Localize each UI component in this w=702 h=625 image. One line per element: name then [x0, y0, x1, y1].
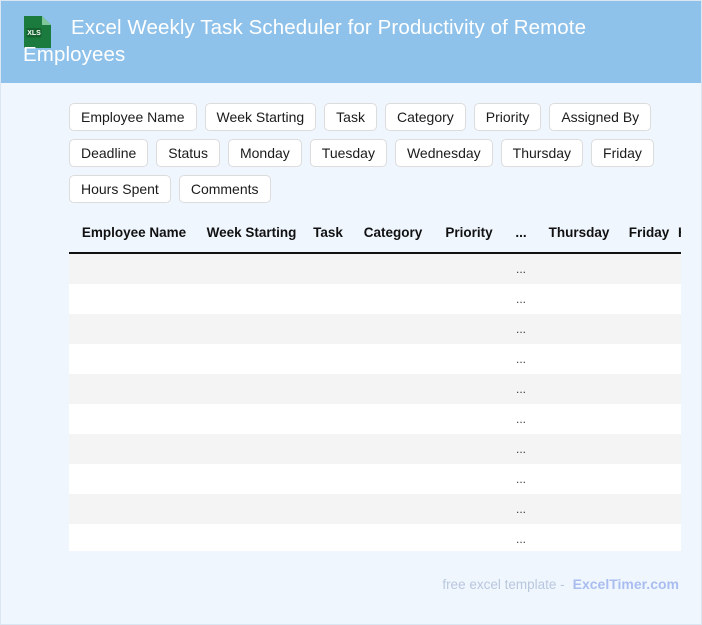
table-cell — [538, 464, 620, 494]
table-cell — [304, 434, 352, 464]
table-row: ... — [69, 524, 681, 551]
table-cell — [434, 314, 504, 344]
table-header-row: Employee Name Week Starting Task Categor… — [69, 221, 681, 253]
table-cell — [352, 374, 434, 404]
table-cell — [352, 404, 434, 434]
table-cell — [620, 464, 678, 494]
table-cell — [69, 464, 199, 494]
table-cell — [199, 524, 304, 551]
table-cell — [538, 404, 620, 434]
table-cell — [199, 314, 304, 344]
table-head: Employee Name Week Starting Task Categor… — [69, 221, 681, 253]
table-cell — [304, 404, 352, 434]
column-chip[interactable]: Status — [156, 139, 220, 167]
table-cell — [538, 284, 620, 314]
footer-brand-link[interactable]: ExcelTimer.com — [573, 576, 679, 592]
table-cell — [538, 494, 620, 524]
table-cell — [304, 314, 352, 344]
table-cell — [304, 253, 352, 284]
column-chip[interactable]: Category — [385, 103, 466, 131]
column-chip[interactable]: Monday — [228, 139, 302, 167]
table-header-cell: Thursday — [538, 221, 620, 253]
table-cell — [678, 434, 681, 464]
table-cell — [304, 374, 352, 404]
table-cell — [69, 404, 199, 434]
table-cell — [538, 314, 620, 344]
table-body: .............................. — [69, 253, 681, 551]
table-cell — [538, 374, 620, 404]
column-chip[interactable]: Wednesday — [395, 139, 493, 167]
table-row: ... — [69, 374, 681, 404]
table-cell — [678, 464, 681, 494]
table-cell — [199, 374, 304, 404]
table-cell-ellipsis: ... — [504, 494, 538, 524]
table-cell — [199, 253, 304, 284]
table-cell — [678, 284, 681, 314]
table-row: ... — [69, 404, 681, 434]
table-cell-ellipsis: ... — [504, 434, 538, 464]
table-cell — [434, 253, 504, 284]
table-cell — [620, 374, 678, 404]
table-cell — [69, 314, 199, 344]
table-cell — [620, 434, 678, 464]
table-cell — [304, 494, 352, 524]
table-cell-ellipsis: ... — [504, 284, 538, 314]
table-cell — [352, 314, 434, 344]
table-cell — [620, 284, 678, 314]
column-chip[interactable]: Comments — [179, 175, 271, 203]
table-cell — [352, 434, 434, 464]
table-cell — [678, 344, 681, 374]
page-header: XLS Excel Weekly Task Scheduler for Prod… — [1, 1, 702, 83]
table-cell — [304, 344, 352, 374]
table-cell — [538, 524, 620, 551]
table-row: ... — [69, 253, 681, 284]
table-cell — [678, 524, 681, 551]
table-cell — [678, 253, 681, 284]
table-cell — [352, 524, 434, 551]
table-row: ... — [69, 284, 681, 314]
table-cell — [352, 494, 434, 524]
table-cell-ellipsis: ... — [504, 253, 538, 284]
table-cell — [620, 253, 678, 284]
table-header-cell: Task — [304, 221, 352, 253]
table-cell — [69, 434, 199, 464]
table-cell-ellipsis: ... — [504, 464, 538, 494]
table-cell — [434, 404, 504, 434]
column-chip[interactable]: Friday — [591, 139, 654, 167]
page-root: XLS Excel Weekly Task Scheduler for Prod… — [0, 0, 702, 625]
column-chip[interactable]: Hours Spent — [69, 175, 171, 203]
table-cell-ellipsis: ... — [504, 314, 538, 344]
table-header-cell: Friday — [620, 221, 678, 253]
table-cell — [69, 253, 199, 284]
table-cell — [620, 344, 678, 374]
column-chip[interactable]: Tuesday — [310, 139, 387, 167]
table-cell — [538, 253, 620, 284]
table-cell — [199, 404, 304, 434]
table-cell — [352, 344, 434, 374]
table-cell — [199, 284, 304, 314]
table-cell-ellipsis: ... — [504, 404, 538, 434]
table-cell — [434, 374, 504, 404]
table-header-cell: Week Starting — [199, 221, 304, 253]
table-row: ... — [69, 314, 681, 344]
table-cell — [69, 524, 199, 551]
column-chip-list: Employee Name Week Starting Task Categor… — [69, 103, 669, 203]
table-cell — [304, 524, 352, 551]
table-cell — [69, 374, 199, 404]
table-cell — [678, 314, 681, 344]
table-cell — [678, 494, 681, 524]
column-chip[interactable]: Week Starting — [205, 103, 317, 131]
table-header-cell: Hours Spent — [678, 221, 681, 253]
table-cell-ellipsis: ... — [504, 344, 538, 374]
table-cell — [352, 284, 434, 314]
table-header-cell: Category — [352, 221, 434, 253]
preview-table: Employee Name Week Starting Task Categor… — [69, 221, 681, 551]
table-header-cell: Employee Name — [69, 221, 199, 253]
table-cell — [199, 464, 304, 494]
footer: free excel template - ExcelTimer.com — [442, 576, 679, 592]
table-cell — [620, 494, 678, 524]
table-cell — [678, 374, 681, 404]
page-title: Excel Weekly Task Scheduler for Producti… — [23, 14, 671, 68]
column-chip[interactable]: Priority — [474, 103, 542, 131]
table-cell — [69, 284, 199, 314]
table-header-cell: Priority — [434, 221, 504, 253]
table-cell — [199, 494, 304, 524]
table-cell — [620, 404, 678, 434]
table-cell — [434, 464, 504, 494]
table-cell-ellipsis: ... — [504, 374, 538, 404]
table-cell-ellipsis: ... — [504, 524, 538, 551]
table-cell — [434, 434, 504, 464]
column-chip[interactable]: Deadline — [69, 139, 148, 167]
table-cell — [69, 494, 199, 524]
column-chip[interactable]: Employee Name — [69, 103, 197, 131]
table-cell — [678, 404, 681, 434]
table-cell — [434, 494, 504, 524]
table-cell — [304, 464, 352, 494]
table-row: ... — [69, 464, 681, 494]
table-cell — [538, 344, 620, 374]
column-chip[interactable]: Task — [324, 103, 377, 131]
table-header-cell-ellipsis: ... — [504, 221, 538, 253]
preview-table-container: Employee Name Week Starting Task Categor… — [69, 221, 681, 551]
table-cell — [620, 524, 678, 551]
footer-prefix-text: free excel template - — [442, 577, 564, 592]
table-cell — [352, 253, 434, 284]
table-row: ... — [69, 434, 681, 464]
table-cell — [620, 314, 678, 344]
table-cell — [434, 524, 504, 551]
table-cell — [199, 434, 304, 464]
table-row: ... — [69, 344, 681, 374]
table-row: ... — [69, 494, 681, 524]
table-cell — [352, 464, 434, 494]
table-cell — [434, 344, 504, 374]
table-cell — [304, 284, 352, 314]
column-chip[interactable]: Thursday — [501, 139, 583, 167]
column-chip[interactable]: Assigned By — [549, 103, 651, 131]
table-cell — [69, 344, 199, 374]
table-cell — [199, 344, 304, 374]
table-cell — [434, 284, 504, 314]
table-cell — [538, 434, 620, 464]
